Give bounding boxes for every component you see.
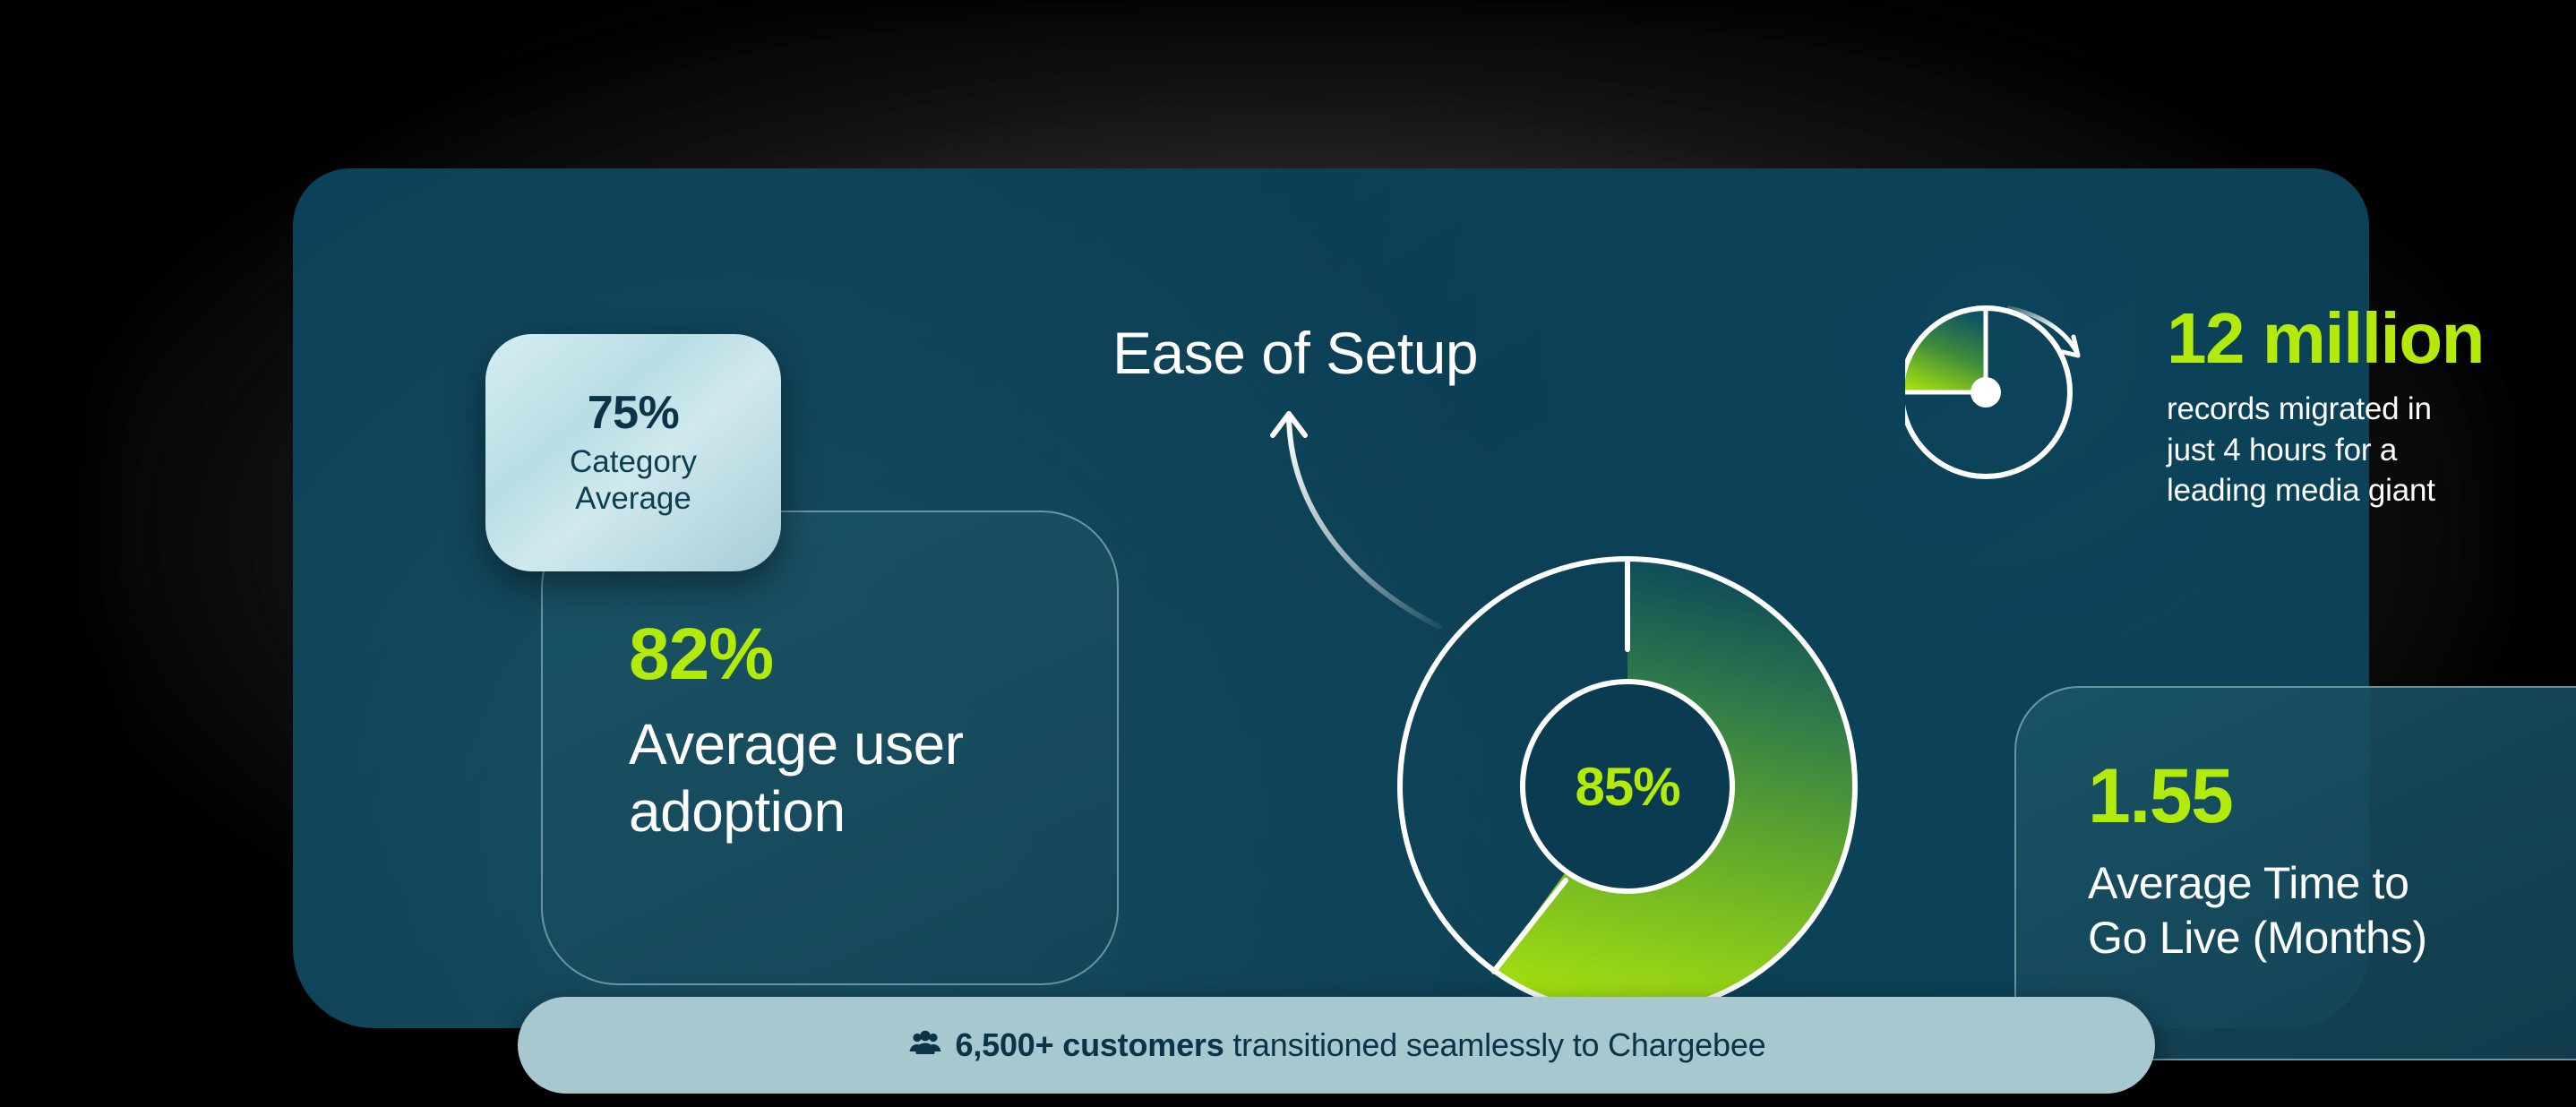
adoption-label-line2: adoption	[629, 778, 1117, 845]
people-group-icon	[907, 1030, 943, 1060]
donut-center-value: 85%	[1575, 756, 1679, 818]
category-average-value: 75%	[588, 389, 680, 438]
golive-label: Average Time to Go Live (Months)	[2088, 856, 2576, 965]
donut-chart-title: Ease of Setup	[1112, 319, 1478, 387]
migration-description-line1: records migrated in	[2167, 389, 2576, 430]
category-average-label-line1: Category	[570, 443, 697, 480]
adoption-label: Average user adoption	[629, 711, 1117, 845]
migration-value: 12 million	[2167, 305, 2576, 373]
migration-stat-block: 12 million records migrated in just 4 ho…	[2167, 305, 2576, 511]
category-average-card: 75% Category Average	[485, 334, 781, 571]
adoption-label-line1: Average user	[629, 711, 1117, 778]
golive-label-line2: Go Live (Months)	[2088, 911, 2576, 965]
main-panel: Ease of Setup	[293, 168, 2369, 1028]
adoption-value: 82%	[629, 618, 1117, 691]
migration-description-line2: just 4 hours for a	[2167, 430, 2576, 471]
golive-label-line1: Average Time to	[2088, 856, 2576, 911]
customers-footer-text: 6,500+ customers transitioned seamlessly…	[956, 1026, 1766, 1064]
customers-count: 6,500+ customers	[956, 1026, 1224, 1063]
customers-footer-bar: 6,500+ customers transitioned seamlessly…	[518, 997, 2155, 1094]
migration-description: records migrated in just 4 hours for a l…	[2167, 389, 2576, 511]
infographic-canvas: Ease of Setup	[0, 0, 2576, 1107]
category-average-label-line2: Average	[570, 480, 697, 517]
donut-center-value-wrap: 85%	[1386, 545, 1869, 1028]
golive-value: 1.55	[2088, 758, 2576, 835]
pie-chart-quadrant-icon	[1905, 285, 2183, 500]
average-user-adoption-card: 82% Average user adoption	[541, 511, 1119, 985]
customers-caption: transitioned seamlessly to Chargebee	[1224, 1026, 1766, 1063]
category-average-label: Category Average	[570, 443, 697, 518]
migration-description-line3: leading media giant	[2167, 470, 2576, 511]
